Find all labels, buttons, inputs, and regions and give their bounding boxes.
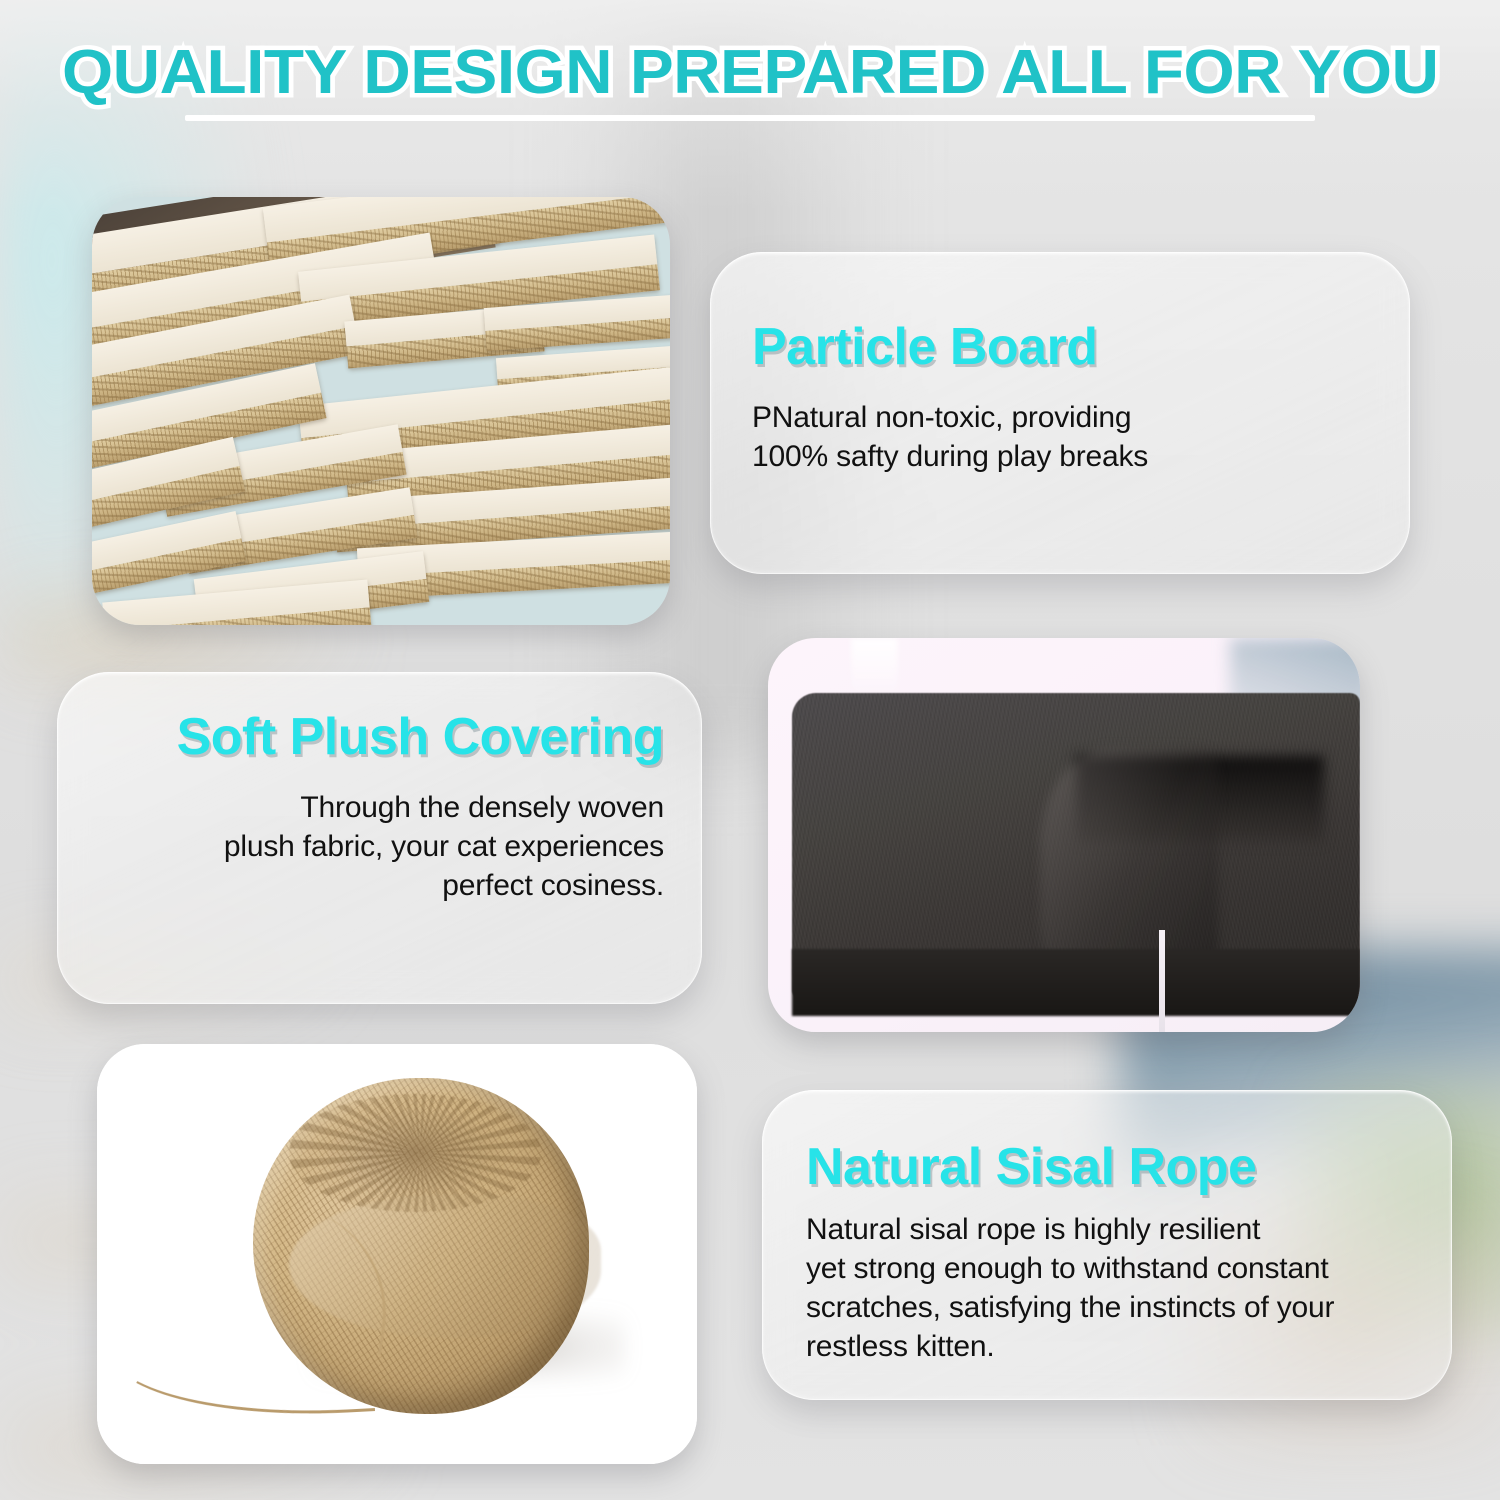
title-underline [185,115,1315,121]
page-title: QUALITY DESIGN PREPARED ALL FOR YOU [62,40,1438,105]
card-body-line: plush fabric, your cat experiences [95,827,664,866]
plush-fabric-photo [768,638,1360,1032]
plush-bottom-edge [792,949,1360,1016]
card-body-natural-sisal-rope: Natural sisal rope is highly resilient y… [806,1210,1408,1366]
card-heading-soft-plush-covering: Soft Plush Covering [95,708,664,766]
card-heading-natural-sisal-rope: Natural Sisal Rope [806,1138,1408,1196]
card-body-line: 100% safty during play breaks [752,437,1368,476]
card-body-line: Natural sisal rope is highly resilient [806,1210,1408,1249]
card-soft-plush-covering: Soft Plush Covering Through the densely … [57,672,702,1004]
sisal-rope-photo [97,1044,697,1464]
twine-center-swirl [289,1094,541,1212]
particle-board-photo [92,197,670,625]
card-heading-particle-board: Particle Board [752,318,1368,376]
card-natural-sisal-rope: Natural Sisal Rope Natural sisal rope is… [762,1090,1452,1400]
card-body-line: Through the densely woven [95,788,664,827]
card-body-line: restless kitten. [806,1327,1408,1366]
header: QUALITY DESIGN PREPARED ALL FOR YOU [0,40,1500,121]
card-body-line: PNatural non-toxic, providing [752,398,1368,437]
card-body-particle-board: PNatural non-toxic, providing 100% safty… [752,398,1368,476]
photo-highlight [851,638,898,701]
card-body-line: perfect cosiness. [95,866,664,905]
infographic-canvas: QUALITY DESIGN PREPARED ALL FOR YOU Part… [0,0,1500,1500]
card-particle-board: Particle Board PNatural non-toxic, provi… [710,252,1410,574]
plush-support-post [1159,930,1166,1032]
card-body-line: yet strong enough to withstand constant [806,1249,1408,1288]
card-body-soft-plush-covering: Through the densely woven plush fabric, … [95,788,664,905]
card-body-line: scratches, satisfying the instincts of y… [806,1288,1408,1327]
